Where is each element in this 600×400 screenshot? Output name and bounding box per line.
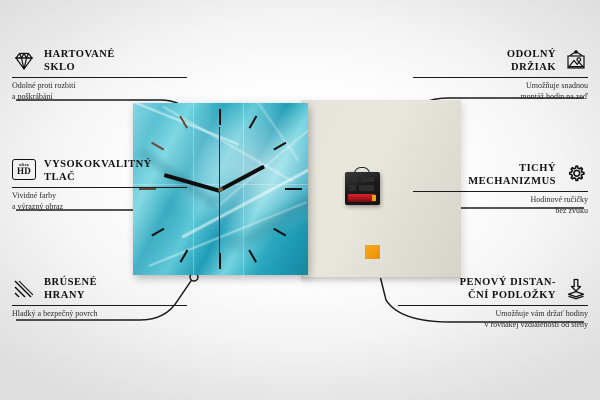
feature-desc-line2: bez zvuku <box>555 206 588 215</box>
infographic-stage: HARTOVANÉ SKLO Odolné proti rozbití a po… <box>0 0 600 400</box>
feature-desc-line1: Hladký a bezpečný povrch <box>12 309 98 318</box>
feature-high-quality-print: ultra HD VYSOKOKVALITNÝ TLAČ Vividné far… <box>12 158 187 212</box>
feature-title-line2: HRANY <box>44 290 85 301</box>
feature-desc-line1: Hodinové ručičky <box>530 195 588 204</box>
feature-title-line1: ODOLNÝ <box>507 49 556 60</box>
feature-title-line1: VYSOKOKVALITNÝ <box>44 159 152 170</box>
feature-desc-line1: Umožňuje snadnou <box>526 81 588 90</box>
gear-icon <box>564 163 588 187</box>
feature-desc-line2: v rovnakej vzdialenosti od steny <box>484 320 588 329</box>
feature-title-line2: DRŽIAK <box>511 62 556 73</box>
feature-desc-line1: Umožňuje vám držať hodiny <box>495 309 588 318</box>
mechanism-battery <box>348 194 375 202</box>
arrow-down-layers-icon <box>564 277 588 301</box>
feature-silent-mechanism: TICHÝ MECHANIZMUS Hodinové ručičky bez z… <box>413 162 588 216</box>
feature-foam-spacers: PENOVÝ DISTAN- ČNÍ PODLOŽKY Umožňuje vám… <box>398 276 588 330</box>
framed-picture-hanging-icon <box>564 49 588 73</box>
clock-hour-hand <box>219 165 265 192</box>
feature-desc-line2: a výrazný obraz <box>12 202 63 211</box>
feature-title-line2: SKLO <box>44 62 75 73</box>
feature-desc-line2: montáž hodin na zeď <box>520 92 588 101</box>
feature-divider <box>413 77 588 78</box>
feature-divider <box>398 305 588 306</box>
diamond-icon <box>12 49 36 73</box>
feature-divider <box>12 77 187 78</box>
feature-title-line2: MECHANIZMUS <box>468 176 556 187</box>
feature-title-line2: TLAČ <box>44 172 75 183</box>
feature-desc-line1: Odolné proti rozbití <box>12 81 76 90</box>
feature-tempered-glass: HARTOVANÉ SKLO Odolné proti rozbití a po… <box>12 48 187 102</box>
clock-mechanism <box>345 172 380 205</box>
hd-badge-large-label: HD <box>17 167 31 176</box>
feature-polished-edges: BRÚSENÉ HRANY Hladký a bezpečný povrch <box>12 276 187 320</box>
feature-title-line2: ČNÍ PODLOŽKY <box>468 290 556 301</box>
feature-divider <box>12 187 187 188</box>
hatched-lines-icon <box>12 277 36 301</box>
feature-title-line1: PENOVÝ DISTAN- <box>460 277 556 288</box>
foam-spacer-pad <box>365 245 380 259</box>
feature-durable-hanger: ODOLNÝ DRŽIAK Umožňuje snadnou montáž ho… <box>413 48 588 102</box>
feature-desc-line2: a poškrábání <box>12 92 53 101</box>
ultra-hd-icon: ultra HD <box>12 159 36 183</box>
feature-divider <box>12 305 187 306</box>
clock-center-hub <box>218 187 223 192</box>
feature-divider <box>413 191 588 192</box>
feature-title-line1: HARTOVANÉ <box>44 49 115 60</box>
feature-title-line1: TICHÝ <box>519 163 556 174</box>
feature-title-line1: BRÚSENÉ <box>44 277 97 288</box>
feature-desc-line1: Vividné farby <box>12 191 56 200</box>
mechanism-hanger-loop <box>354 167 370 174</box>
